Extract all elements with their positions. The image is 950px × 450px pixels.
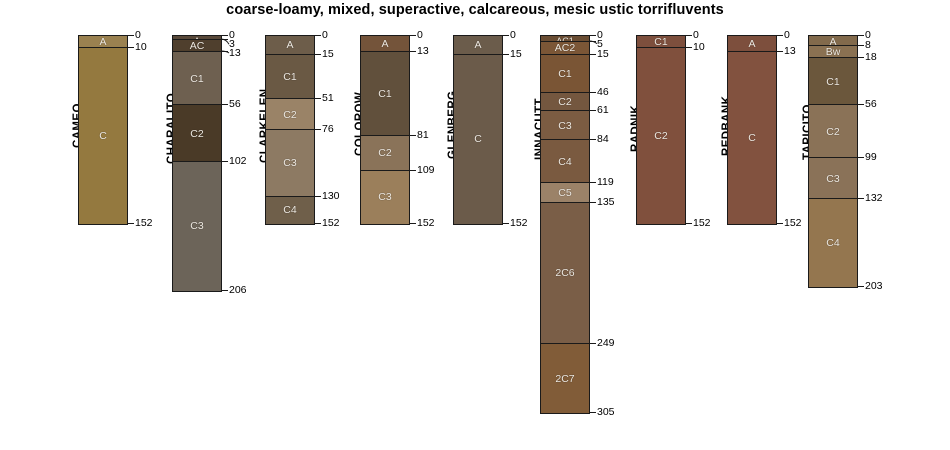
depth-tick bbox=[127, 47, 134, 48]
depth-label: 119 bbox=[597, 177, 614, 187]
profile-column: AC bbox=[727, 35, 777, 225]
horizon-label: C2 bbox=[361, 147, 409, 159]
depth-label: 8 bbox=[865, 40, 871, 50]
horizon: C2 bbox=[809, 105, 857, 158]
profile-column: AACC1C2C3 bbox=[172, 35, 222, 292]
depth-label: 0 bbox=[135, 30, 141, 40]
horizon: Bw bbox=[809, 46, 857, 58]
horizon-label: AC2 bbox=[541, 42, 589, 54]
depth-label: 203 bbox=[865, 281, 883, 291]
horizon-label: C3 bbox=[361, 191, 409, 203]
depth-label: 56 bbox=[229, 99, 241, 109]
depth-label: 152 bbox=[417, 218, 435, 228]
horizon: C2 bbox=[541, 93, 589, 112]
depth-leader-line bbox=[221, 38, 231, 45]
horizon: C4 bbox=[809, 199, 857, 287]
depth-label: 10 bbox=[693, 42, 705, 52]
depth-tick bbox=[857, 57, 864, 58]
depth-tick bbox=[409, 35, 416, 36]
horizon: C1 bbox=[541, 55, 589, 93]
depth-tick bbox=[589, 139, 596, 140]
horizon: C1 bbox=[173, 52, 221, 105]
depth-label: 61 bbox=[597, 105, 609, 115]
horizon: A bbox=[79, 36, 127, 48]
horizon-label: C1 bbox=[809, 76, 857, 88]
horizon-label: C1 bbox=[173, 73, 221, 85]
horizon: A bbox=[728, 36, 776, 52]
depth-tick bbox=[502, 35, 509, 36]
depth-tick bbox=[589, 182, 596, 183]
depth-tick bbox=[314, 196, 321, 197]
depth-tick bbox=[127, 223, 134, 224]
depth-label: 249 bbox=[597, 338, 615, 348]
horizon: C3 bbox=[173, 162, 221, 291]
depth-tick bbox=[314, 54, 321, 55]
horizon-label: C1 bbox=[266, 71, 314, 83]
depth-label: 152 bbox=[135, 218, 153, 228]
depth-tick bbox=[502, 223, 509, 224]
profile-column: ABwC1C2C3C4 bbox=[808, 35, 858, 288]
horizon-label: C3 bbox=[809, 173, 857, 185]
horizon: A bbox=[266, 36, 314, 55]
depth-label: 0 bbox=[693, 30, 699, 40]
horizon: C4 bbox=[266, 197, 314, 224]
depth-label: 15 bbox=[597, 49, 609, 59]
profile-column: AC1C2C3 bbox=[360, 35, 410, 225]
horizon-label: C bbox=[454, 133, 502, 145]
depth-tick bbox=[589, 35, 596, 36]
depth-label: 152 bbox=[322, 218, 340, 228]
depth-label: 15 bbox=[322, 49, 334, 59]
depth-tick bbox=[685, 223, 692, 224]
depth-tick bbox=[857, 35, 864, 36]
depth-tick bbox=[589, 202, 596, 203]
depth-tick bbox=[409, 223, 416, 224]
depth-tick bbox=[857, 45, 864, 46]
depth-label: 305 bbox=[597, 407, 615, 417]
horizon-label: C4 bbox=[809, 237, 857, 249]
horizon: C1 bbox=[809, 58, 857, 105]
depth-label: 0 bbox=[510, 30, 516, 40]
depth-tick bbox=[409, 135, 416, 136]
horizon-label: C2 bbox=[173, 128, 221, 140]
horizon: C1 bbox=[637, 36, 685, 48]
depth-tick bbox=[589, 92, 596, 93]
depth-label: 84 bbox=[597, 134, 609, 144]
depth-label: 0 bbox=[784, 30, 790, 40]
profile-column: C1C2 bbox=[636, 35, 686, 225]
depth-tick bbox=[221, 35, 228, 36]
depth-label: 99 bbox=[865, 152, 877, 162]
depth-label: 152 bbox=[784, 218, 802, 228]
horizon-label: C1 bbox=[541, 68, 589, 80]
horizon: A bbox=[361, 36, 409, 52]
horizon-label: C1 bbox=[637, 36, 685, 48]
horizon: C3 bbox=[266, 130, 314, 197]
horizon: C2 bbox=[637, 48, 685, 224]
depth-label: 152 bbox=[510, 218, 528, 228]
horizon: C3 bbox=[809, 158, 857, 199]
depth-tick bbox=[409, 51, 416, 52]
depth-label: 46 bbox=[597, 87, 609, 97]
horizon: C2 bbox=[173, 105, 221, 162]
depth-tick bbox=[589, 110, 596, 111]
soil-profile-chart: coarse-loamy, mixed, superactive, calcar… bbox=[0, 0, 950, 450]
depth-tick bbox=[857, 286, 864, 287]
horizon-label: A bbox=[728, 38, 776, 50]
horizon: C2 bbox=[361, 136, 409, 171]
horizon: C5 bbox=[541, 183, 589, 203]
depth-label: 135 bbox=[597, 197, 615, 207]
horizon-label: C3 bbox=[541, 120, 589, 132]
depth-label: 76 bbox=[322, 124, 334, 134]
profile-column: AC1C2C3C4 bbox=[265, 35, 315, 225]
horizon-label: A bbox=[266, 39, 314, 51]
depth-tick bbox=[314, 35, 321, 36]
depth-tick bbox=[589, 54, 596, 55]
horizon-label: A bbox=[361, 38, 409, 50]
depth-label: 109 bbox=[417, 165, 435, 175]
horizon-label: C2 bbox=[266, 109, 314, 121]
depth-tick bbox=[314, 223, 321, 224]
depth-tick bbox=[409, 170, 416, 171]
depth-tick bbox=[589, 343, 596, 344]
depth-tick bbox=[502, 54, 509, 55]
depth-label: 130 bbox=[322, 191, 340, 201]
depth-tick bbox=[776, 51, 783, 52]
depth-label: 56 bbox=[865, 99, 877, 109]
depth-tick bbox=[857, 157, 864, 158]
horizon-label: C4 bbox=[541, 156, 589, 168]
horizon-label: A bbox=[79, 36, 127, 48]
depth-label: 102 bbox=[229, 156, 247, 166]
horizon-label: 2C6 bbox=[541, 267, 589, 279]
horizon-label: C bbox=[728, 132, 776, 144]
depth-tick bbox=[589, 412, 596, 413]
depth-label: 81 bbox=[417, 130, 429, 140]
horizon: 2C7 bbox=[541, 344, 589, 413]
depth-tick bbox=[314, 129, 321, 130]
depth-tick bbox=[314, 98, 321, 99]
depth-label: 0 bbox=[417, 30, 423, 40]
horizon: C1 bbox=[361, 52, 409, 136]
depth-label: 132 bbox=[865, 193, 883, 203]
depth-tick bbox=[776, 223, 783, 224]
profile-column: AC bbox=[78, 35, 128, 225]
horizon: C bbox=[79, 48, 127, 224]
horizon: C4 bbox=[541, 140, 589, 183]
depth-tick bbox=[685, 47, 692, 48]
depth-label: 10 bbox=[135, 42, 147, 52]
depth-tick bbox=[776, 35, 783, 36]
depth-tick bbox=[857, 198, 864, 199]
horizon-label: A bbox=[454, 39, 502, 51]
depth-label: 152 bbox=[693, 218, 711, 228]
horizon-label: C1 bbox=[361, 88, 409, 100]
horizon-label: A bbox=[809, 36, 857, 46]
horizon-label: C2 bbox=[809, 126, 857, 138]
horizon-label: C3 bbox=[173, 220, 221, 232]
profile-column: AC1AC2C1C2C3C4C52C62C7 bbox=[540, 35, 590, 414]
depth-label: 18 bbox=[865, 52, 877, 62]
depth-tick bbox=[857, 104, 864, 105]
depth-tick bbox=[221, 161, 228, 162]
profile-column: AC bbox=[453, 35, 503, 225]
depth-label: 206 bbox=[229, 285, 247, 295]
horizon-label: C3 bbox=[266, 157, 314, 169]
horizon-label: C4 bbox=[266, 204, 314, 216]
depth-label: 13 bbox=[784, 46, 796, 56]
horizon: 2C6 bbox=[541, 203, 589, 344]
chart-title: coarse-loamy, mixed, superactive, calcar… bbox=[0, 2, 950, 18]
horizon: C3 bbox=[541, 111, 589, 139]
horizon: C bbox=[454, 55, 502, 224]
depth-label: 13 bbox=[417, 46, 429, 56]
depth-label: 15 bbox=[510, 49, 522, 59]
depth-tick bbox=[221, 290, 228, 291]
depth-leader-line bbox=[221, 50, 231, 54]
horizon: A bbox=[454, 36, 502, 55]
horizon: AC2 bbox=[541, 42, 589, 54]
horizon-label: C5 bbox=[541, 187, 589, 199]
horizon-label: AC bbox=[173, 40, 221, 52]
horizon-label: C bbox=[79, 130, 127, 142]
depth-tick bbox=[685, 35, 692, 36]
horizon-label: C2 bbox=[637, 130, 685, 142]
depth-leader-line bbox=[589, 40, 599, 45]
horizon: C1 bbox=[266, 55, 314, 100]
horizon: C bbox=[728, 52, 776, 224]
horizon-label: 2C7 bbox=[541, 373, 589, 385]
horizon: C2 bbox=[266, 99, 314, 130]
horizon-label: Bw bbox=[809, 46, 857, 58]
depth-label: 51 bbox=[322, 93, 334, 103]
depth-tick bbox=[127, 35, 134, 36]
horizon: AC bbox=[173, 40, 221, 52]
depth-tick bbox=[221, 104, 228, 105]
horizon: A bbox=[809, 36, 857, 46]
horizon: C3 bbox=[361, 171, 409, 224]
horizon-label: C2 bbox=[541, 96, 589, 108]
depth-label: 0 bbox=[322, 30, 328, 40]
